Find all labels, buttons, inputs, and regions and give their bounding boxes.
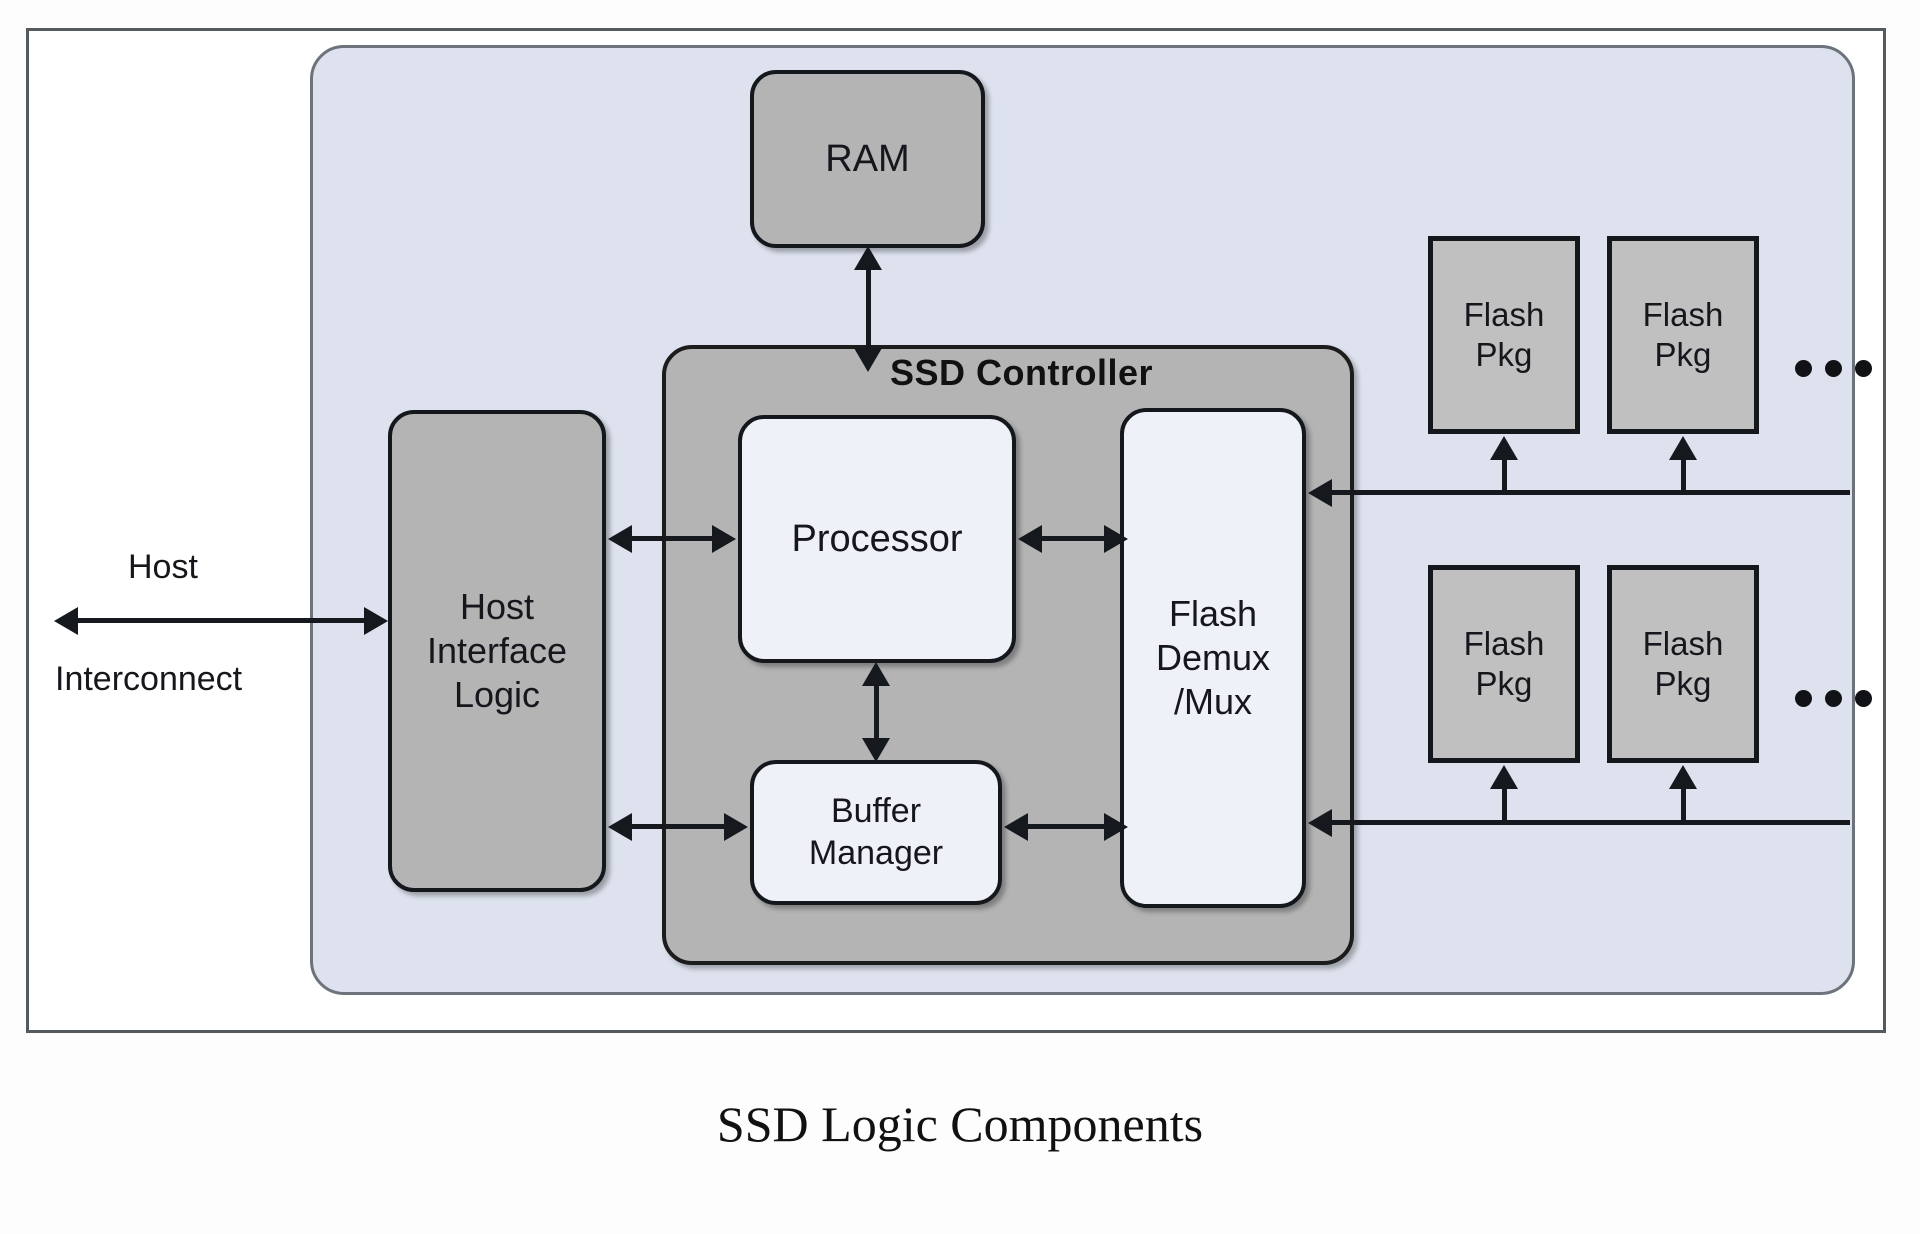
figure-caption: SSD Logic Components <box>0 1095 1920 1153</box>
processor-buffer-arrow-down <box>862 738 890 762</box>
flash-bus-lower <box>1330 820 1850 825</box>
flash-bus-lower-arrow-left <box>1308 809 1332 837</box>
buffer-manager-line-2: Manager <box>809 833 943 874</box>
ram-controller-line <box>866 268 871 348</box>
flash-package-line-2: Pkg <box>1464 335 1545 375</box>
flash-package-line-1: Flash <box>1464 624 1545 664</box>
host-label: Host <box>128 548 198 587</box>
flash-bus-lower-branch-2 <box>1681 787 1686 821</box>
flash-bus-upper-branch-2 <box>1681 458 1686 492</box>
host-interconnect-line <box>78 618 368 623</box>
buffer-demux-arrow-right <box>1104 813 1128 841</box>
hil-processor-arrow-right <box>712 525 736 553</box>
flash-demux-line-1: Flash <box>1156 592 1270 636</box>
hil-processor-arrow-left <box>608 525 632 553</box>
flash-package-line-1: Flash <box>1464 295 1545 335</box>
buffer-demux-line <box>1026 824 1106 829</box>
ram-label: RAM <box>825 136 909 182</box>
figure-root: SSD Controller Host Interconnect RAM Hos… <box>0 0 1920 1234</box>
interconnect-label: Interconnect <box>55 660 242 699</box>
flash-package-line-2: Pkg <box>1643 664 1724 704</box>
flash-row2-ellipsis-icon <box>1795 690 1872 707</box>
host-interface-logic-line-1: Host <box>427 585 567 629</box>
processor-block: Processor <box>738 415 1016 663</box>
flash-bus-lower-branch-1 <box>1502 787 1507 821</box>
processor-buffer-line <box>874 684 879 740</box>
processor-demux-arrow-right <box>1104 525 1128 553</box>
host-interface-logic-block: Host Interface Logic <box>388 410 606 892</box>
flash-package-line-2: Pkg <box>1643 335 1724 375</box>
flash-demux-line-2: Demux <box>1156 636 1270 680</box>
hil-buffer-line <box>630 824 726 829</box>
processor-demux-line <box>1040 536 1106 541</box>
processor-demux-arrow-left <box>1018 525 1042 553</box>
flash-pkg-r1c2-arrow <box>1669 436 1697 460</box>
ram-block: RAM <box>750 70 985 248</box>
hil-buffer-arrow-right <box>724 813 748 841</box>
buffer-manager-block: Buffer Manager <box>750 760 1002 905</box>
host-interface-logic-line-2: Interface <box>427 629 567 673</box>
hil-processor-line <box>630 536 714 541</box>
flash-pkg-r1c1-arrow <box>1490 436 1518 460</box>
flash-package: Flash Pkg <box>1607 565 1759 763</box>
processor-label: Processor <box>791 516 962 562</box>
flash-bus-upper-branch-1 <box>1502 458 1507 492</box>
hil-buffer-arrow-left <box>608 813 632 841</box>
host-interface-logic-line-3: Logic <box>427 673 567 717</box>
flash-row1-ellipsis-icon <box>1795 360 1872 377</box>
flash-package-line-2: Pkg <box>1464 664 1545 704</box>
flash-package: Flash Pkg <box>1428 565 1580 763</box>
flash-package: Flash Pkg <box>1428 236 1580 434</box>
host-interconnect-arrow-right <box>364 607 388 635</box>
buffer-demux-arrow-left <box>1004 813 1028 841</box>
host-interconnect-arrow-left <box>54 607 78 635</box>
flash-package-line-1: Flash <box>1643 624 1724 664</box>
buffer-manager-line-1: Buffer <box>809 791 943 832</box>
processor-buffer-arrow-up <box>862 662 890 686</box>
flash-package: Flash Pkg <box>1607 236 1759 434</box>
flash-demux-mux-block: Flash Demux /Mux <box>1120 408 1306 908</box>
ram-arrow-down <box>854 348 882 372</box>
ssd-controller-title: SSD Controller <box>890 352 1153 394</box>
flash-demux-line-3: /Mux <box>1156 680 1270 724</box>
flash-bus-upper <box>1330 490 1850 495</box>
flash-pkg-r2c2-arrow <box>1669 765 1697 789</box>
ram-arrow-up <box>854 246 882 270</box>
flash-bus-upper-arrow-left <box>1308 479 1332 507</box>
flash-package-line-1: Flash <box>1643 295 1724 335</box>
flash-pkg-r2c1-arrow <box>1490 765 1518 789</box>
